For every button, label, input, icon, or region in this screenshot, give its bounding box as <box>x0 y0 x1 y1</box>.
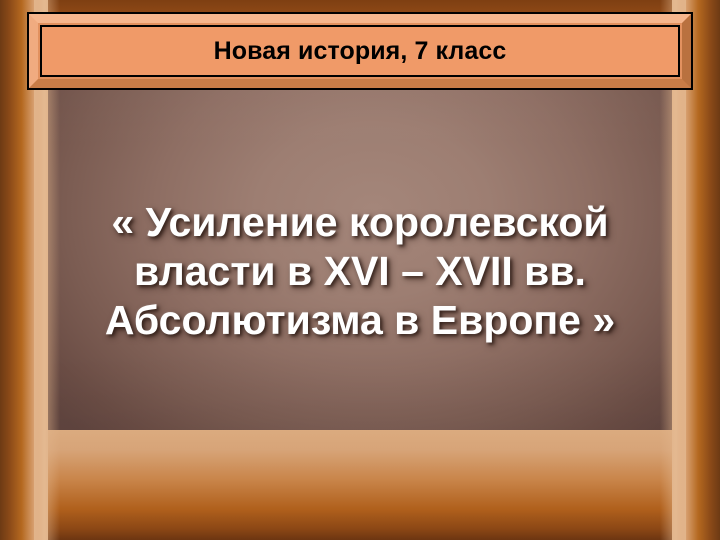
header-title-text: Новая история, 7 класс <box>214 39 507 64</box>
slide-title: « Усиление королевской власти в XVI – XV… <box>50 198 670 345</box>
slide-title-line-2: власти в XVI – XVII вв. <box>50 247 670 296</box>
header-title-inner: Новая история, 7 класс <box>40 25 680 77</box>
slide-title-line-1: « Усиление королевской <box>50 198 670 247</box>
slide-title-line-3: Абсолютизма в Европе » <box>50 296 670 345</box>
frame-bottom-band <box>0 430 720 540</box>
slide-root: Новая история, 7 класс « Усиление короле… <box>0 0 720 540</box>
header-title-box: Новая история, 7 класс <box>27 12 693 90</box>
